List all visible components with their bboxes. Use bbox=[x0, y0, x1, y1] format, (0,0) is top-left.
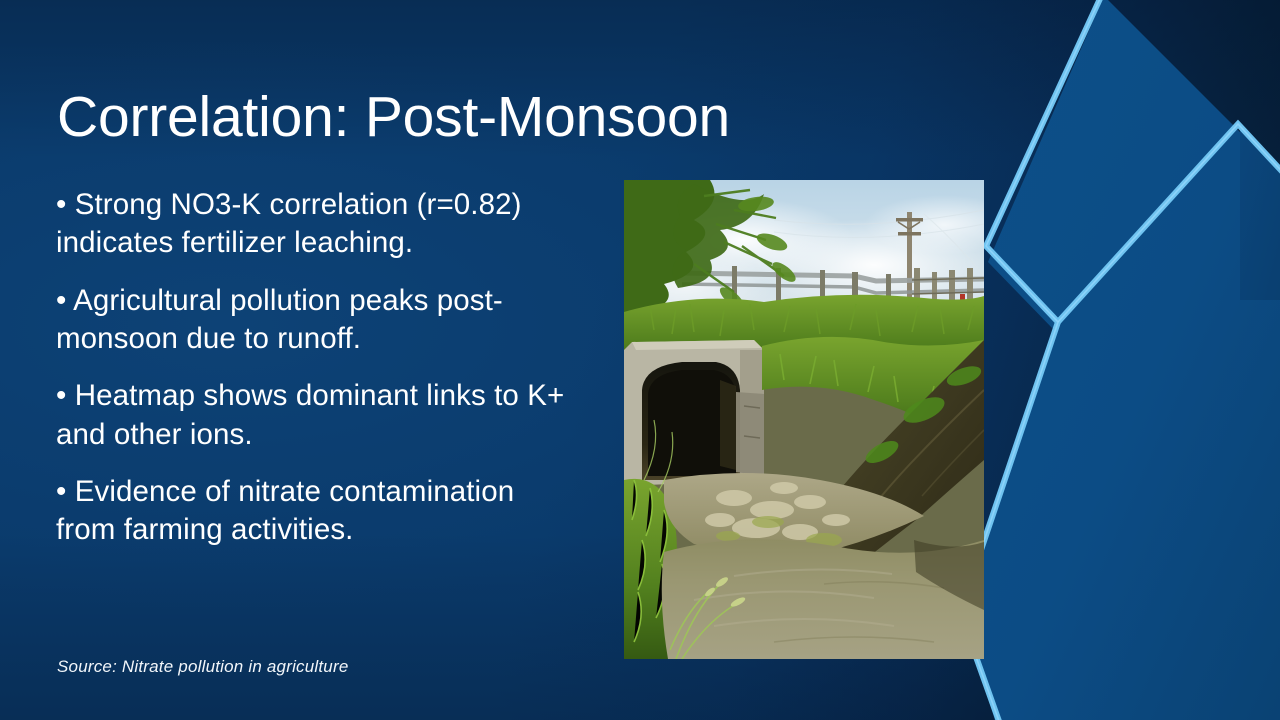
slide-photo bbox=[624, 180, 984, 659]
bullet-item-3: • Heatmap shows dominant links to K+ and… bbox=[56, 377, 576, 454]
bullet-list: • Strong NO3-K correlation (r=0.82) indi… bbox=[56, 186, 576, 550]
bullet-item-2: • Agricultural pollution peaks post-mons… bbox=[56, 282, 576, 359]
page-title: Correlation: Post-Monsoon bbox=[57, 86, 937, 150]
culvert-photo-illustration bbox=[624, 180, 984, 659]
bullet-item-1: • Strong NO3-K correlation (r=0.82) indi… bbox=[56, 186, 576, 263]
bullet-item-4: • Evidence of nitrate contamination from… bbox=[56, 473, 576, 550]
source-caption: Source: Nitrate pollution in agriculture bbox=[57, 657, 348, 677]
slide: Correlation: Post-Monsoon • Strong NO3-K… bbox=[0, 0, 1280, 720]
